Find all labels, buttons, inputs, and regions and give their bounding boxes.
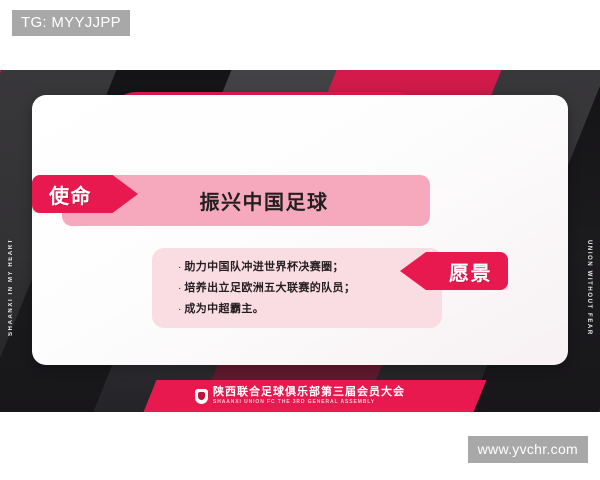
side-slogan-right: UNION WITHOUT FEAR — [586, 240, 592, 336]
list-item: · 成为中超霸主。 — [178, 300, 442, 319]
vision-label-text: 愿景 — [449, 257, 492, 286]
vision-bullet-text: 成为中超霸主。 — [184, 300, 264, 319]
footer-title-english: SHAANXI UNION FC THE 3RD GENERAL ASSEMBL… — [213, 400, 405, 405]
list-item: · 培养出立足欧洲五大联赛的队员； — [178, 279, 442, 298]
vision-bullet-box: · 助力中国队冲进世界杯决赛圈； · 培养出立足欧洲五大联赛的队员； · 成为中… — [152, 248, 442, 328]
bullet-marker-icon: · — [178, 279, 181, 298]
vision-bullet-text: 培养出立足欧洲五大联赛的队员； — [184, 279, 355, 298]
club-shield-icon — [195, 389, 208, 404]
footer-bar: 陕西联合足球俱乐部第三届会员大会 SHAANXI UNION FC THE 3R… — [0, 380, 600, 412]
bullet-marker-icon: · — [178, 300, 181, 319]
list-item: · 助力中国队冲进世界杯决赛圈； — [178, 258, 442, 277]
side-slogan-left: SHAANXI IN MY HEART — [8, 238, 14, 336]
watermark-bottom-right: www.yvchr.com — [468, 436, 588, 463]
bullet-marker-icon: · — [178, 258, 181, 277]
footer-content: 陕西联合足球俱乐部第三届会员大会 SHAANXI UNION FC THE 3R… — [0, 380, 600, 412]
vision-bullet-text: 助力中国队冲进世界杯决赛圈； — [184, 258, 344, 277]
footer-title-chinese: 陕西联合足球俱乐部第三届会员大会 — [213, 387, 405, 398]
screenshot-root: TG: MYYJJPP SHAANXI IN MY HEART UNION WI… — [0, 0, 600, 480]
presentation-slide: SHAANXI IN MY HEART UNION WITHOUT FEAR 联… — [0, 70, 600, 412]
mission-label-text: 使命 — [49, 180, 92, 209]
footer-text-group: 陕西联合足球俱乐部第三届会员大会 SHAANXI UNION FC THE 3R… — [213, 387, 405, 405]
mission-statement-text: 振兴中国足球 — [164, 186, 329, 215]
watermark-top-left: TG: MYYJJPP — [12, 10, 130, 36]
